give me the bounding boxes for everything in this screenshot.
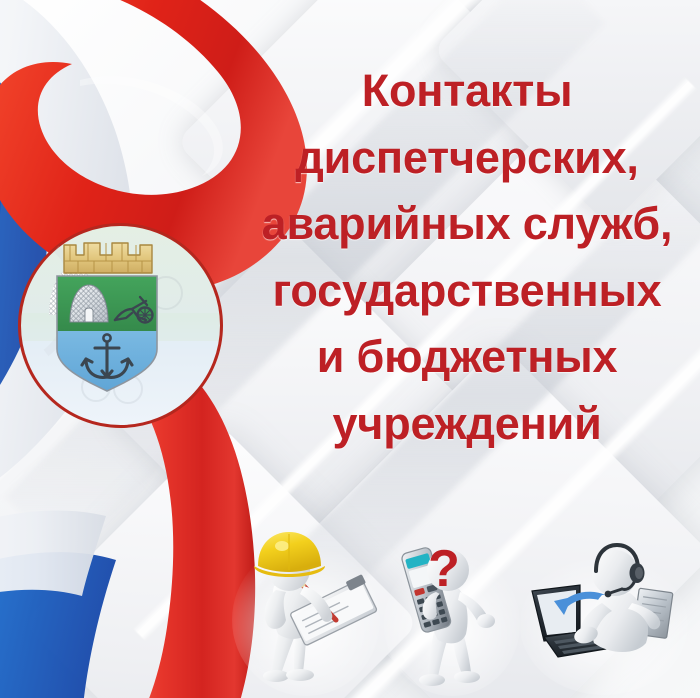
- headline-line-6: учреждений: [236, 391, 698, 458]
- headline-line-5: и бюджетных: [236, 324, 698, 391]
- inspector-figure: [232, 524, 390, 698]
- headline-line-2: диспетчерских,: [236, 125, 698, 192]
- coat-of-arms-emblem: [16, 221, 225, 430]
- caller-figure: ?: [382, 534, 522, 698]
- poster-canvas: Контакты диспетчерских, аварийных служб,…: [0, 0, 700, 698]
- headline-line-1: Контакты: [236, 58, 698, 125]
- headline-line-4: государственных: [236, 258, 698, 325]
- headline-line-3: аварийных служб,: [236, 191, 698, 258]
- question-mark-icon: ?: [428, 540, 460, 598]
- page-title: Контакты диспетчерских, аварийных служб,…: [236, 58, 698, 458]
- headset-microphone: [605, 591, 612, 598]
- operator-figure: [518, 533, 690, 698]
